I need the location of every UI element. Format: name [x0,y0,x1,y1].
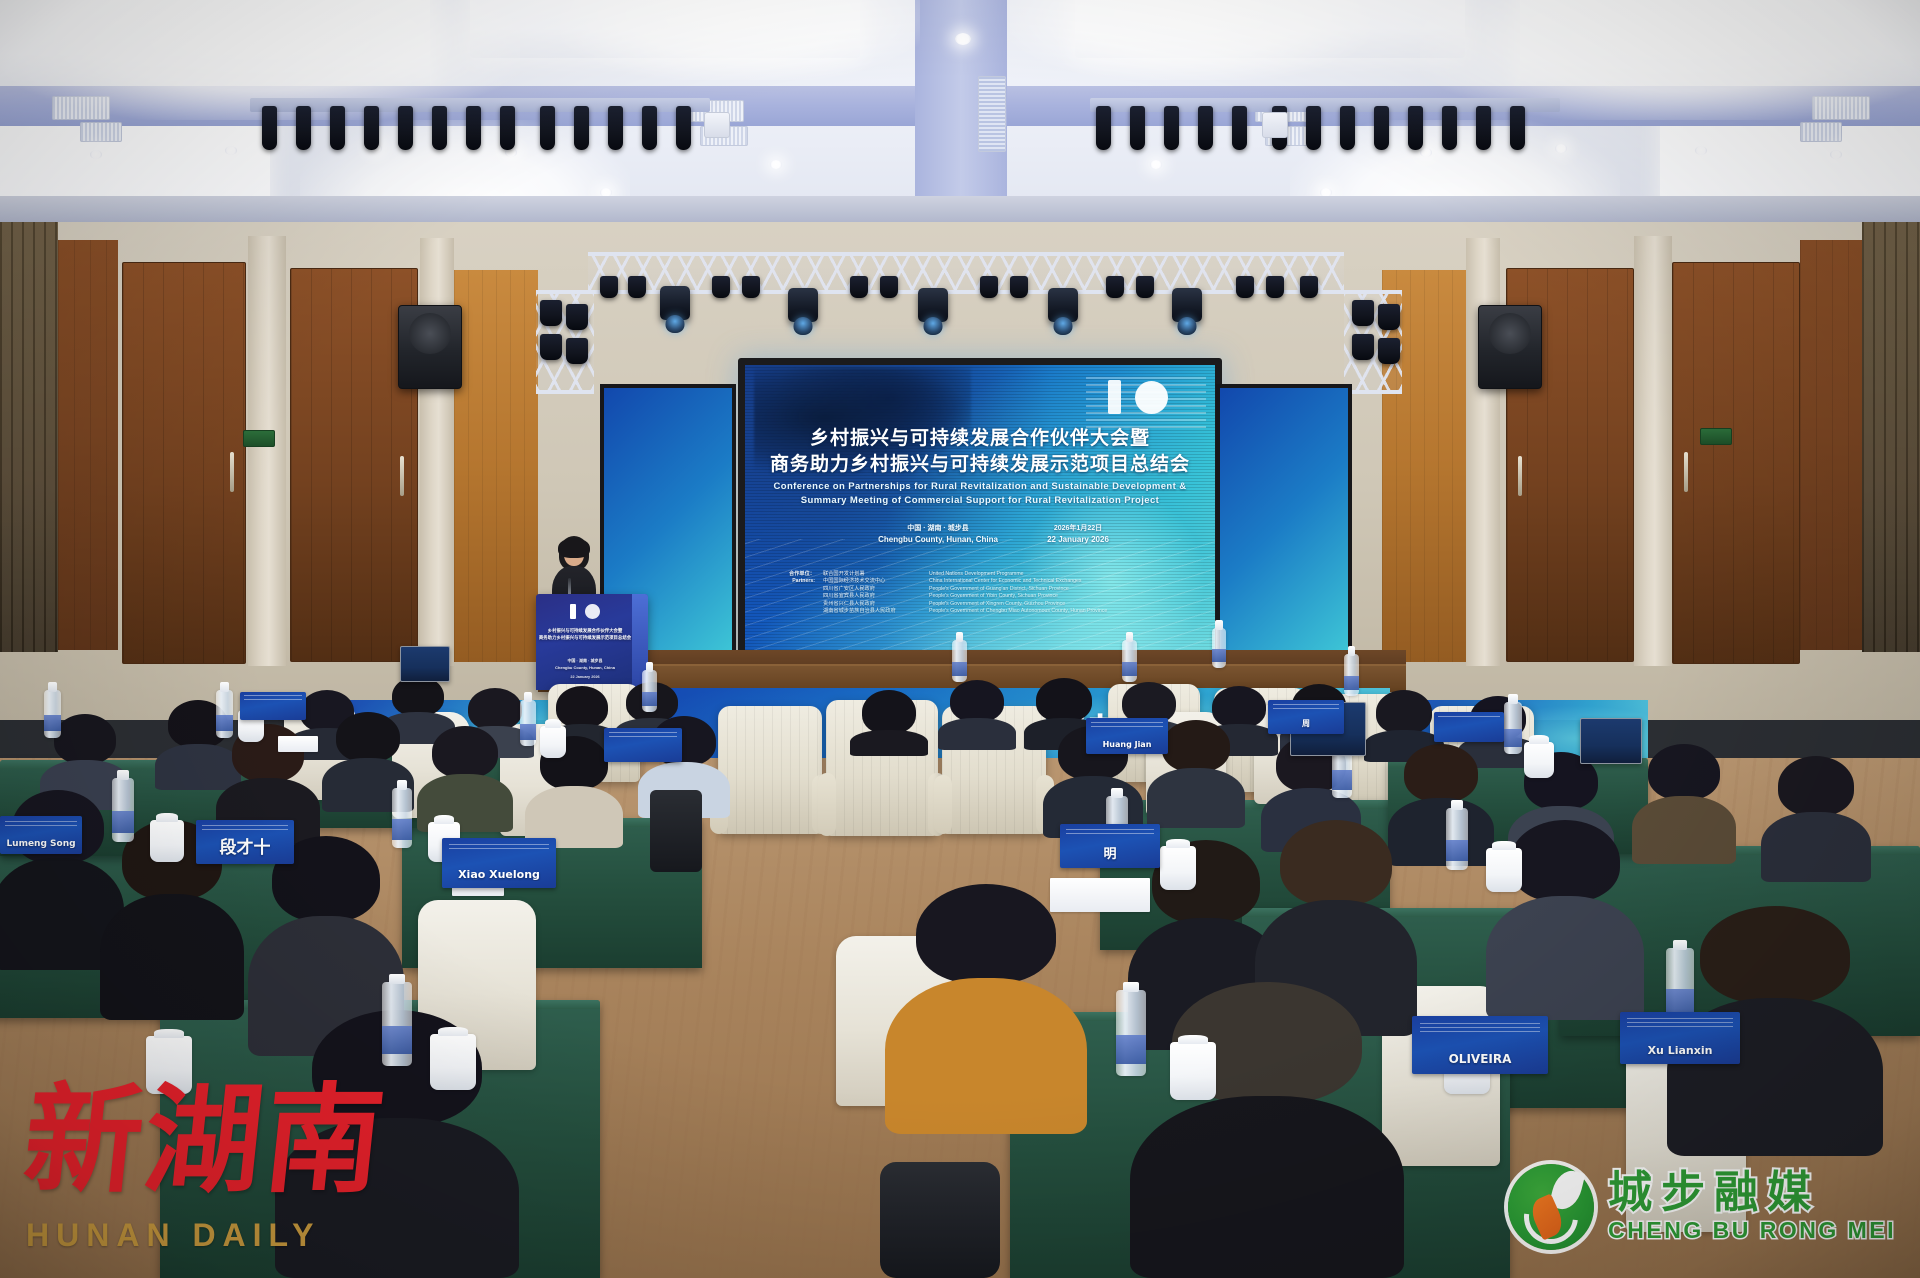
paper-sheet [278,736,318,752]
handbag [650,790,702,872]
par-can [850,276,868,298]
par-can [742,276,760,298]
tea-cup[interactable] [540,726,566,758]
curtain-left [0,222,58,652]
column-left [248,236,286,666]
ceiling-vent [978,76,1006,152]
water-bottle[interactable] [1344,654,1359,696]
laptop[interactable] [1580,718,1642,764]
attendee [950,680,1004,750]
name-placard: Xu Lianxin [1620,1012,1740,1064]
backpack [880,1162,1000,1278]
tea-cup[interactable] [1524,742,1554,778]
exit-sign [1700,428,1732,445]
water-bottle[interactable] [1212,628,1226,668]
moving-head-light [660,286,690,320]
tea-cup[interactable] [146,1036,192,1094]
ceiling-vent [52,96,110,120]
screen-date-cn: 2026年1月22日 [1013,523,1143,533]
par-can [628,276,646,298]
podium: 乡村振兴与可持续发展合作伙伴大会暨 商务助力乡村振兴与可持续发展示范项目总结会 … [536,594,648,690]
water-bottle[interactable] [392,788,412,848]
par-can [1300,276,1318,298]
name-placard [604,728,682,762]
door-handle [230,452,234,492]
water-bottle[interactable] [1116,990,1146,1076]
water-bottle[interactable] [1446,808,1468,870]
attendee [1172,982,1362,1278]
main-led-screen: 乡村振兴与可持续发展合作伙伴大会暨 商务助力乡村振兴与可持续发展示范项目总结会 … [738,358,1222,672]
screen-emblem [1108,380,1168,414]
attendee [336,712,400,812]
tea-cup[interactable] [1486,848,1522,892]
water-bottle[interactable] [216,690,233,738]
door-handle [1518,456,1522,496]
column-right [1634,236,1672,666]
placard-name: Xu Lianxin [1620,1044,1740,1057]
par-can [880,276,898,298]
tea-cup[interactable] [150,820,184,862]
podium-emblem [536,604,634,619]
ceiling-vent [1800,122,1842,142]
name-placard [240,692,306,720]
side-light [1352,300,1374,326]
moving-head-light [918,288,948,322]
ceiling-fascia [0,196,1920,222]
column-left-2 [420,238,454,666]
led-panel-right [1216,384,1352,658]
par-can [600,276,618,298]
moving-head-light [788,288,818,322]
attendee [1648,744,1720,864]
placard-name: OLIVEIRA [1412,1052,1548,1066]
water-bottle[interactable] [382,982,412,1066]
placard-name: Xiao Xuelong [442,868,556,881]
podium-venue-cn: 中国 · 湖南 · 城步县 [536,658,634,664]
water-bottle[interactable] [1504,702,1522,754]
exit-sign [243,430,275,447]
screen-title-cn-line2: 商务助力乡村振兴与可持续发展示范项目总结会 [745,449,1215,476]
screen-wave-graphic [745,539,1215,665]
laptop[interactable] [400,646,450,682]
screen-title-en-line1: Conference on Partnerships for Rural Rev… [745,481,1215,492]
moving-head-light [1172,288,1202,322]
wall-panel-left [58,240,118,650]
door-right [1672,262,1800,664]
attendee [1162,720,1230,828]
par-can [1106,276,1124,298]
water-bottle[interactable] [1122,640,1137,682]
pa-speaker-right [1478,305,1542,389]
podium-title-cn-2: 商务助力乡村振兴与可持续发展示范项目总结会 [536,635,634,641]
ceiling-vent [1812,96,1870,120]
water-bottle[interactable] [112,778,134,842]
podium-date-en: 22 January 2026 [536,675,634,679]
pa-speaker-left [398,305,462,389]
name-placard: Xiao Xuelong [442,838,556,888]
door-left [122,262,246,664]
placard-name: 段才十 [196,833,294,858]
tea-cup[interactable] [430,1034,476,1090]
tea-cup[interactable] [1170,1042,1216,1100]
placard-name: Lumeng Song [0,839,82,849]
door-handle [400,456,404,496]
par-can [1266,276,1284,298]
side-light [1378,304,1400,330]
attendee [916,884,1056,1134]
conference-hall-photo: 乡村振兴与可持续发展合作伙伴大会暨 商务助力乡村振兴与可持续发展示范项目总结会 … [0,0,1920,1278]
screen-title-cn-line1: 乡村振兴与可持续发展合作伙伴大会暨 [745,423,1215,450]
par-can [712,276,730,298]
side-light [566,304,588,330]
curtain-right [1862,222,1920,652]
placard-name: Huang Jian [1086,740,1168,749]
water-bottle[interactable] [520,700,536,746]
water-bottle[interactable] [642,670,657,712]
screen-venue-cn: 中国 · 湖南 · 城步县 [863,523,1013,533]
screen-title-en-line2: Summary Meeting of Commercial Support fo… [745,495,1215,506]
placard-name: 明 [1060,843,1160,862]
name-placard: 段才十 [196,820,294,864]
name-placard: 明 [1060,824,1160,868]
column-right-2 [1466,238,1500,666]
par-can [1236,276,1254,298]
podium-venue-en: Chengbu County, Hunan, China [536,665,634,670]
side-light [540,334,562,360]
attendee [1510,820,1620,1020]
par-can [1010,276,1028,298]
moving-head-light [1048,288,1078,322]
name-placard [1434,712,1504,742]
side-light [540,300,562,326]
side-light [1352,334,1374,360]
side-light [566,338,588,364]
attendee [1778,756,1854,882]
ceiling-vent [80,122,122,142]
podium-title-cn-1: 乡村振兴与可持续发展合作伙伴大会暨 [536,628,634,634]
par-can [980,276,998,298]
wall-wood-left [454,270,538,662]
water-bottle[interactable] [44,690,61,738]
name-placard: OLIVEIRA [1412,1016,1548,1074]
name-placard: 周 [1268,700,1344,734]
side-light [1378,338,1400,364]
paper-sheet [1050,878,1150,912]
water-bottle[interactable] [952,640,967,682]
sofa-front-left [718,706,822,834]
tea-cup[interactable] [1160,846,1196,890]
placard-name: 周 [1268,718,1344,729]
name-placard: Lumeng Song [0,816,82,854]
door-handle [1684,452,1688,492]
ceiling-sensor [955,33,971,45]
wall-panel-right [1800,240,1862,650]
lighting-truss [588,252,1344,294]
name-placard: Huang Jian [1086,718,1168,754]
par-can [1136,276,1154,298]
attendee-in-sofa [862,690,916,750]
